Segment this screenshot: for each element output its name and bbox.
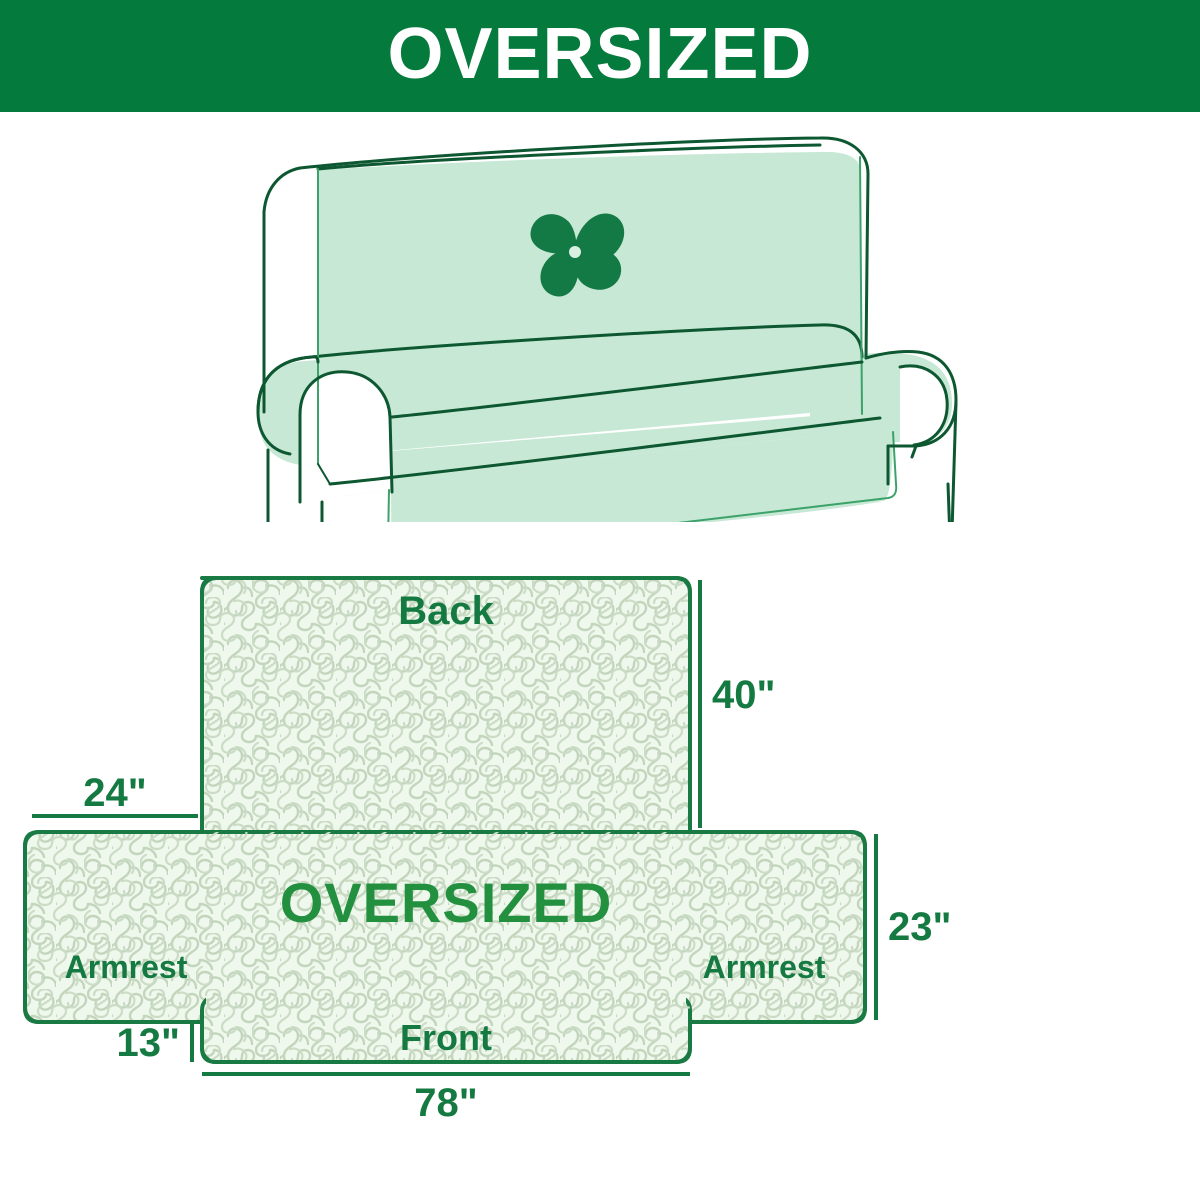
label-center-oversized: OVERSIZED xyxy=(280,871,613,934)
dimension-value-23: 23" xyxy=(888,905,951,949)
size-diagram: Back OVERSIZED Armrest Armrest Front 40"… xyxy=(0,522,1200,1200)
cover-shape xyxy=(25,578,865,1062)
page-title: OVERSIZED xyxy=(387,18,812,90)
dimension-value-40: 40" xyxy=(712,673,775,717)
label-front: Front xyxy=(400,1017,492,1058)
sofa-drawing xyxy=(0,112,1200,522)
cover-layout-diagram: Back OVERSIZED Armrest Armrest Front 40"… xyxy=(0,522,1200,1200)
label-armrest-right: Armrest xyxy=(703,949,826,985)
sofa-illustration xyxy=(0,112,1200,522)
label-armrest-left: Armrest xyxy=(65,949,188,985)
dimension-value-13: 13" xyxy=(117,1021,180,1065)
dimension-value-78: 78" xyxy=(414,1081,477,1125)
header-banner: OVERSIZED xyxy=(0,0,1200,112)
dimension-value-24: 24" xyxy=(83,771,146,815)
label-back: Back xyxy=(398,589,494,633)
